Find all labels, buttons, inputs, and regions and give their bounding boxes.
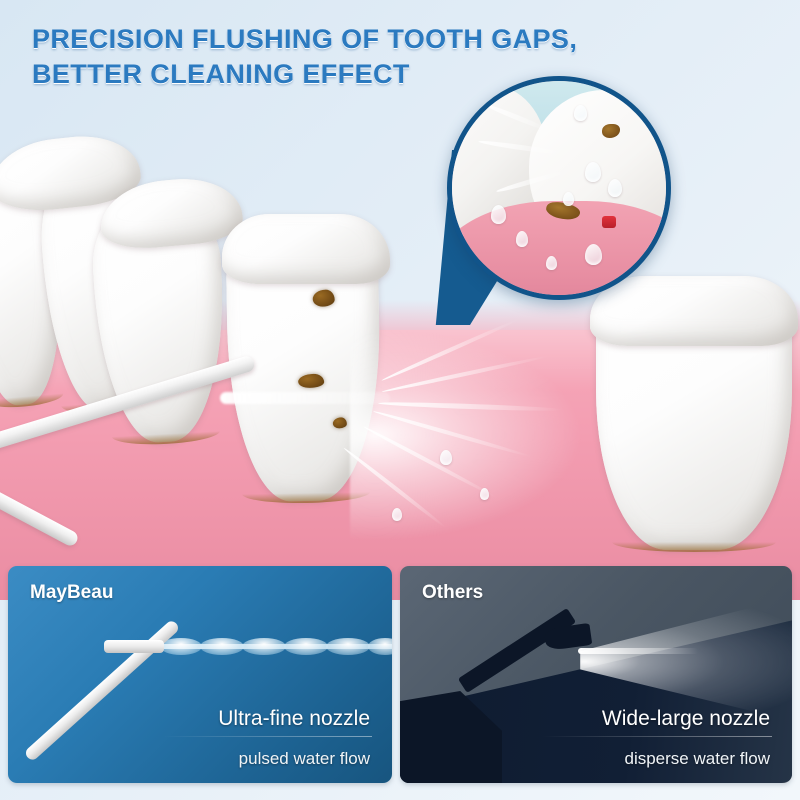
magnified-droplet (585, 244, 602, 265)
panel-caption-main: Ultra-fine nozzle (218, 707, 370, 731)
magnifier-closeup (447, 76, 671, 300)
maybeau-pulse (284, 638, 328, 655)
maybeau-nozzle-tip (104, 640, 164, 653)
magnified-droplet (585, 162, 601, 182)
magnified-droplet (608, 179, 622, 197)
maybeau-pulse (326, 638, 370, 655)
magnified-red-particle (602, 216, 616, 228)
product-feature-image: PRECISION FLUSHING OF TOOTH GAPS, BETTER… (0, 0, 800, 800)
water-splash-burst (350, 320, 600, 550)
panel-caption-main: Wide-large nozzle (602, 707, 770, 731)
water-flosser-jet-group (180, 300, 680, 580)
others-spray-core (578, 648, 698, 654)
comparison-panels: MayBeau Ultra-fine nozzle pulsed water f… (0, 566, 800, 786)
caption-divider (542, 736, 772, 737)
others-disperse-spray (580, 594, 792, 724)
magnified-droplet (574, 105, 587, 121)
maybeau-pulse (368, 638, 392, 655)
panel-maybeau[interactable]: MayBeau Ultra-fine nozzle pulsed water f… (8, 566, 392, 783)
panel-caption-sub: pulsed water flow (239, 749, 370, 769)
caption-divider (162, 736, 372, 737)
panel-others[interactable]: Others Wide-large nozzle disperse water … (400, 566, 792, 783)
maybeau-pulse (200, 638, 244, 655)
maybeau-pulse (242, 638, 286, 655)
water-droplet (480, 488, 489, 500)
magnified-droplet (516, 231, 528, 247)
tooth-molar-1-crown (222, 214, 390, 284)
others-nozzle-stem (458, 608, 576, 693)
magnified-droplet (491, 205, 506, 224)
panel-brand-label: Others (422, 582, 483, 604)
others-nozzle-handle (400, 691, 502, 783)
water-droplet (440, 450, 452, 465)
panel-caption-sub: disperse water flow (624, 749, 770, 769)
magnified-droplet (563, 192, 574, 206)
water-droplet (392, 508, 402, 521)
panel-brand-label: MayBeau (30, 582, 113, 604)
water-spray (180, 300, 680, 580)
